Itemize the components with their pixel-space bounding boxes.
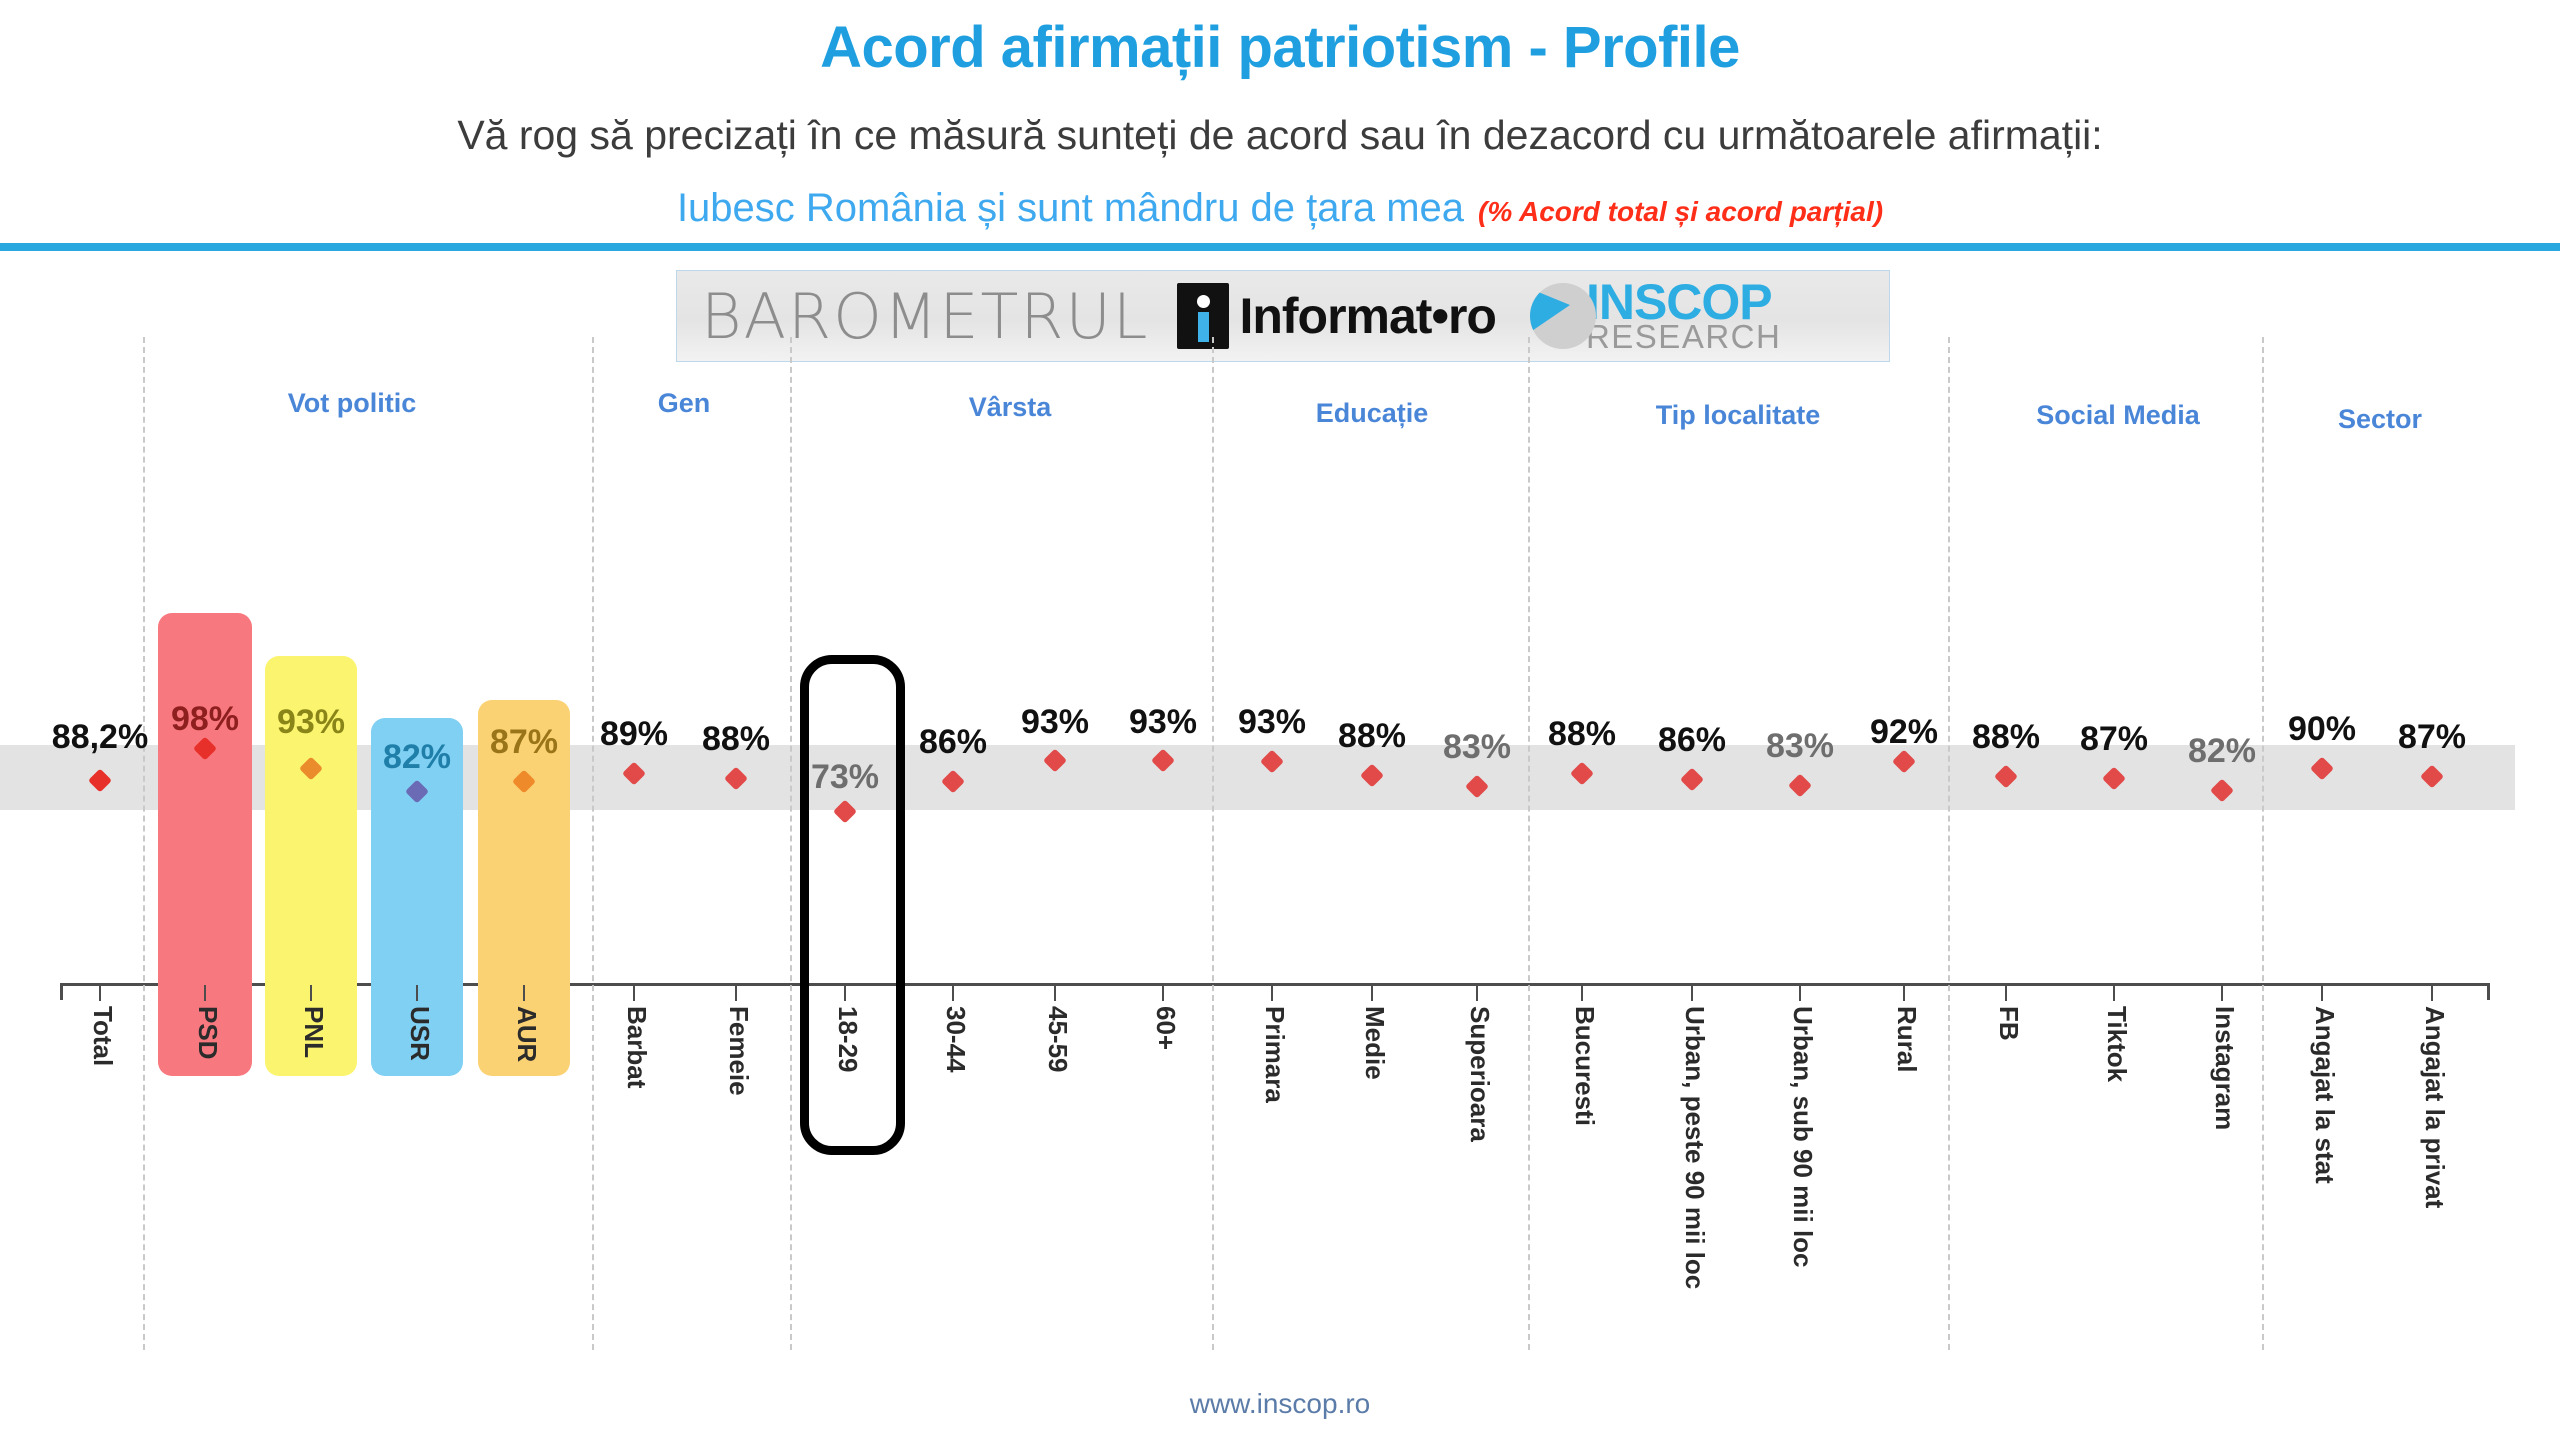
group-label-social-media: Social Media xyxy=(2036,400,2200,431)
group-divider xyxy=(1212,337,1214,1350)
category-label-Urban, peste 90 mii loc: Urban, peste 90 mii loc xyxy=(1679,1006,1710,1289)
category-label-Instagram: Instagram xyxy=(2209,1006,2240,1130)
axis-tick xyxy=(1691,985,1693,1001)
axis-tick xyxy=(1371,985,1373,1001)
value-label-Medie: 88% xyxy=(1338,717,1406,756)
value-label-60+: 93% xyxy=(1129,703,1197,742)
axis-tick xyxy=(952,985,954,1001)
category-label-Medie: Medie xyxy=(1359,1006,1390,1080)
group-label-sector: Sector xyxy=(2338,404,2422,435)
value-label-Barbat: 89% xyxy=(600,715,668,754)
category-label-Barbat: Barbat xyxy=(621,1006,652,1088)
axis-tick xyxy=(2321,985,2323,1001)
value-label-PNL: 93% xyxy=(277,703,345,742)
value-label-AUR: 87% xyxy=(490,723,558,762)
axis-tick xyxy=(1799,985,1801,1001)
value-label-Rural: 92% xyxy=(1870,713,1938,752)
axis-tick xyxy=(204,985,206,1001)
category-label-USR: USR xyxy=(404,1006,435,1061)
value-label-USR: 82% xyxy=(383,738,451,777)
category-label-Primara: Primara xyxy=(1259,1006,1290,1103)
value-label-Angajat la privat: 87% xyxy=(2398,718,2466,757)
highlight-box-18-29 xyxy=(800,655,905,1155)
group-divider xyxy=(592,337,594,1350)
category-label-PSD: PSD xyxy=(192,1006,223,1059)
footer-url: www.inscop.ro xyxy=(0,1388,2560,1420)
group-divider xyxy=(1528,337,1530,1350)
value-label-Angajat la stat: 90% xyxy=(2288,710,2356,749)
group-label-varsta: Vârsta xyxy=(969,392,1052,423)
value-label-Total: 88,2% xyxy=(52,718,148,757)
axis-tick xyxy=(1581,985,1583,1001)
category-label-60+: 60+ xyxy=(1150,1006,1181,1050)
axis-tick xyxy=(1054,985,1056,1001)
group-label-tip-localitate: Tip localitate xyxy=(1656,400,1821,431)
value-label-Primara: 93% xyxy=(1238,703,1306,742)
axis-tick xyxy=(1903,985,1905,1001)
axis-tick xyxy=(523,985,525,1001)
category-label-30-44: 30-44 xyxy=(940,1006,971,1073)
axis-tick xyxy=(633,985,635,1001)
axis-tick xyxy=(2005,985,2007,1001)
axis-tick xyxy=(2221,985,2223,1001)
value-label-FB: 88% xyxy=(1972,718,2040,757)
value-label-30-44: 86% xyxy=(919,723,987,762)
category-label-18-29: 18-29 xyxy=(832,1006,863,1073)
axis-tick xyxy=(735,985,737,1001)
category-label-FB: FB xyxy=(1993,1006,2024,1041)
group-label-educatie: Educație xyxy=(1316,398,1429,429)
value-label-Femeie: 88% xyxy=(702,720,770,759)
category-label-Angajat la stat: Angajat la stat xyxy=(2309,1006,2340,1184)
axis-tick xyxy=(99,985,101,1001)
value-label-Instagram: 82% xyxy=(2188,732,2256,771)
value-label-45-59: 93% xyxy=(1021,703,1089,742)
axis-tick xyxy=(2113,985,2115,1001)
axis-tick xyxy=(416,985,418,1001)
category-label-PNL: PNL xyxy=(298,1006,329,1058)
group-label-vot-politic: Vot politic xyxy=(288,388,417,419)
axis-cap-left xyxy=(60,983,63,1000)
group-divider xyxy=(790,337,792,1350)
group-label-gen: Gen xyxy=(658,388,711,419)
axis-tick xyxy=(1476,985,1478,1001)
category-label-Rural: Rural xyxy=(1891,1006,1922,1072)
value-label-Bucuresti: 88% xyxy=(1548,715,1616,754)
axis-tick xyxy=(2431,985,2433,1001)
value-label-Tiktok: 87% xyxy=(2080,720,2148,759)
axis-tick xyxy=(1271,985,1273,1001)
group-divider xyxy=(2262,337,2264,1350)
category-label-Superioara: Superioara xyxy=(1464,1006,1495,1142)
category-label-AUR: AUR xyxy=(511,1006,542,1062)
value-label-18-29: 73% xyxy=(811,758,879,797)
value-label-PSD: 98% xyxy=(171,700,239,739)
category-label-Femeie: Femeie xyxy=(723,1006,754,1096)
axis-tick xyxy=(1162,985,1164,1001)
axis-cap-right xyxy=(2487,983,2490,1000)
category-label-Urban, sub 90 mii loc: Urban, sub 90 mii loc xyxy=(1787,1006,1818,1268)
category-label-Angajat la privat: Angajat la privat xyxy=(2419,1006,2450,1208)
category-label-45-59: 45-59 xyxy=(1042,1006,1073,1073)
group-divider xyxy=(1948,337,1950,1350)
axis-tick xyxy=(844,985,846,1001)
group-divider xyxy=(143,337,145,1350)
profile-chart: 88,2%TotalVot politic98%PSD93%PNL82%USR8… xyxy=(0,0,2560,1440)
category-label-Total: Total xyxy=(87,1006,118,1066)
value-label-Urban, sub 90 mii loc: 83% xyxy=(1766,727,1834,766)
axis-tick xyxy=(310,985,312,1001)
value-label-Superioara: 83% xyxy=(1443,728,1511,767)
category-label-Bucuresti: Bucuresti xyxy=(1569,1006,1600,1126)
category-label-Tiktok: Tiktok xyxy=(2101,1006,2132,1082)
value-label-Urban, peste 90 mii loc: 86% xyxy=(1658,721,1726,760)
